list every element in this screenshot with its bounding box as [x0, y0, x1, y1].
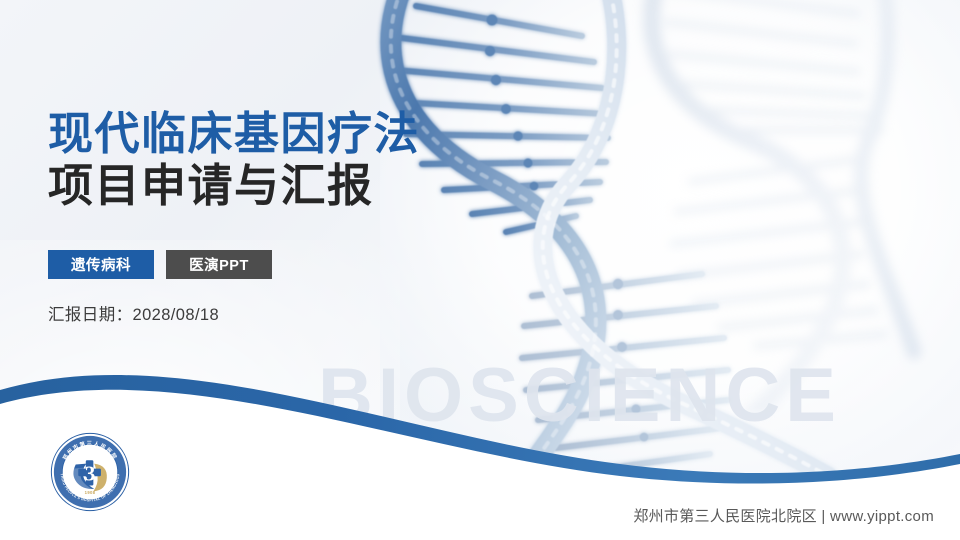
badge-department: 遗传病科: [48, 250, 154, 279]
slide-title-line-1: 现代临床基因疗法: [48, 108, 420, 160]
seal-year: 1908: [85, 490, 96, 495]
report-date-label: 汇报日期：2028/08/18: [48, 301, 420, 325]
slide-title-line-2: 项目申请与汇报: [48, 160, 420, 212]
seal-center-glyph: 3: [85, 461, 96, 485]
footer-institution-and-site: 郑州市第三人民医院北院区 | www.yippt.com: [633, 505, 934, 526]
badge-template-brand: 医演PPT: [166, 250, 272, 279]
badge-group: 遗传病科 医演PPT: [48, 250, 420, 279]
hospital-seal-logo: 郑州市第三人民医院 THIRD PEOPLE'S HOSPITAL OF ZHE…: [48, 430, 132, 514]
title-text-block: 现代临床基因疗法 项目申请与汇报 遗传病科 医演PPT 汇报日期：2028/08…: [48, 108, 420, 325]
presentation-title-slide: BIOSCIENCE 现代临床基因疗法 项目申请与汇报 遗传病科 医演PPT: [0, 0, 960, 540]
